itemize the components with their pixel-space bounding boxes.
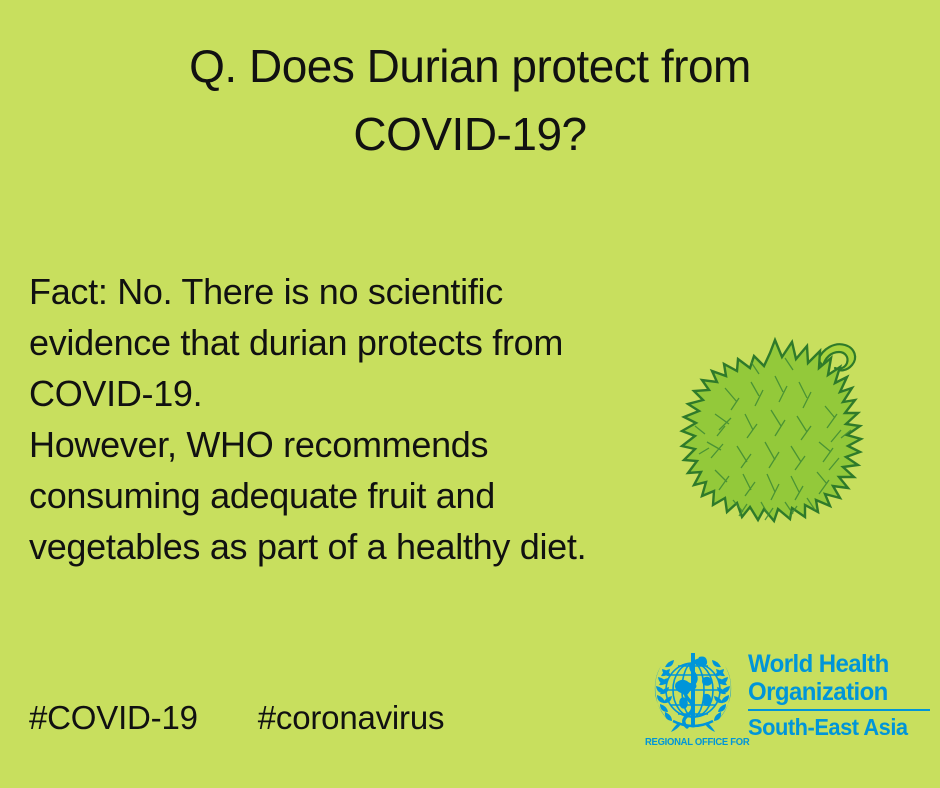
who-regional-office-label: REGIONAL OFFICE FOR bbox=[645, 736, 735, 749]
serpent-head bbox=[697, 657, 707, 667]
hashtag-covid19: #COVID-19 bbox=[29, 698, 198, 738]
who-divider-rule bbox=[748, 709, 930, 711]
who-wordmark-line1: World Health bbox=[748, 650, 926, 678]
who-logo: REGIONAL OFFICE FOR World Health Organiz… bbox=[643, 650, 933, 756]
hashtag-row: #COVID-19 #coronavirus bbox=[29, 698, 444, 738]
who-wordmark-line2: Organization bbox=[748, 678, 926, 706]
durian-illustration bbox=[655, 318, 895, 556]
page-title: Q. Does Durian protect from COVID-19? bbox=[60, 32, 880, 168]
hashtag-coronavirus: #coronavirus bbox=[258, 698, 445, 738]
fact-body-text: Fact: No. There is no scientific evidenc… bbox=[29, 266, 629, 572]
poster-canvas: Q. Does Durian protect from COVID-19? Fa… bbox=[0, 0, 940, 788]
who-region-name: South-East Asia bbox=[748, 714, 924, 741]
durian-body bbox=[682, 340, 861, 521]
who-wordmark: World Health Organization South-East Asi… bbox=[748, 650, 933, 741]
who-emblem-icon bbox=[643, 650, 743, 736]
